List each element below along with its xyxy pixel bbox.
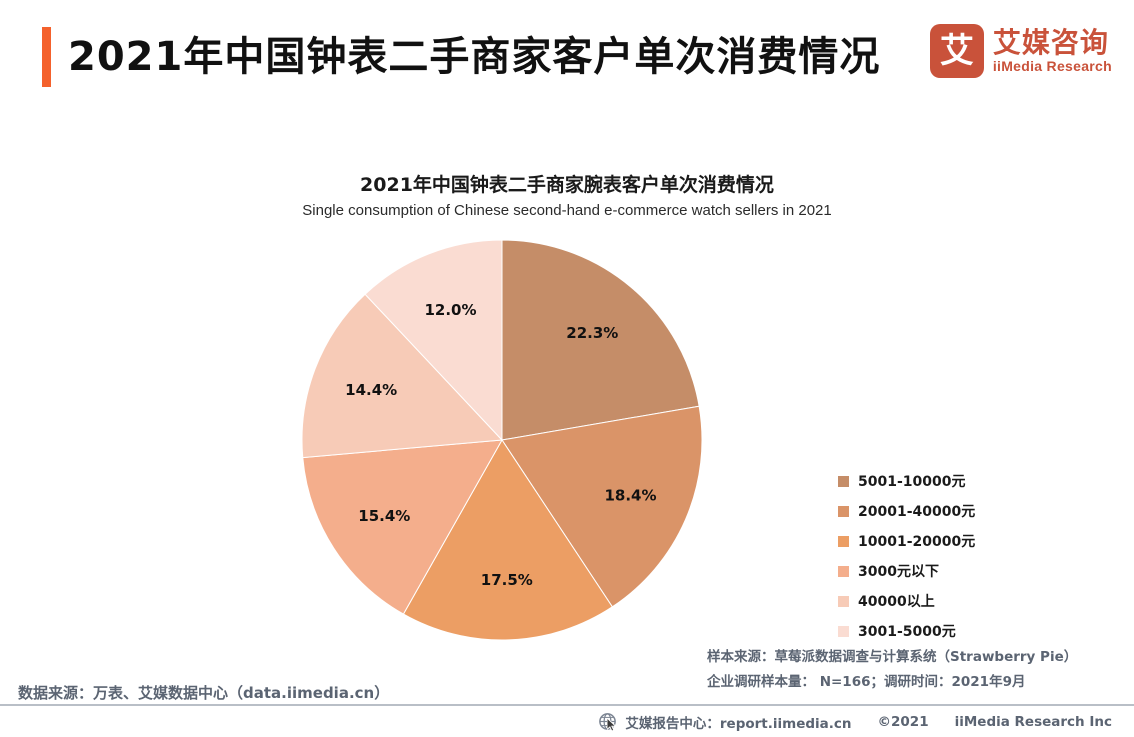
sample-size-note: 企业调研样本量： N=166；调研时间：2021年9月 (707, 670, 1127, 695)
chart-legend: 5001-10000元20001-40000元10001-20000元3000元… (838, 468, 975, 648)
footer-copyright: ©2021 (878, 714, 929, 730)
pie-slice-label: 22.3% (566, 324, 618, 342)
title-accent-bar (42, 27, 51, 87)
legend-swatch-icon (838, 506, 849, 517)
sample-note-block: 样本来源：草莓派数据调查与计算系统（Strawberry Pie） 企业调研样本… (707, 645, 1127, 695)
chart-container: 2021年中国钟表二手商家腕表客户单次消费情况 Single consumpti… (0, 110, 1134, 630)
legend-item[interactable]: 40000以上 (838, 588, 975, 614)
legend-swatch-icon (838, 476, 849, 487)
pie-chart-svg: 22.3%18.4%17.5%15.4%14.4%12.0% (300, 238, 704, 642)
pie-slice-label: 15.4% (358, 507, 410, 525)
legend-swatch-icon (838, 566, 849, 577)
legend-label: 5001-10000元 (858, 471, 965, 491)
data-source-note: 数据来源：万表、艾媒数据中心（data.iimedia.cn） (18, 682, 389, 703)
logo-text-group: 艾媒咨询 iiMedia Research (993, 28, 1112, 75)
legend-item[interactable]: 3001-5000元 (838, 618, 975, 644)
globe-icon (598, 712, 617, 731)
chart-page: 2021年中国钟表二手商家客户单次消费情况 艾 艾媒咨询 iiMedia Res… (0, 0, 1134, 737)
legend-swatch-icon (838, 596, 849, 607)
legend-label: 20001-40000元 (858, 501, 975, 521)
footer-report-center[interactable]: 艾媒报告中心：report.iimedia.cn (625, 712, 851, 732)
chart-subtitle: Single consumption of Chinese second-han… (0, 202, 1134, 219)
legend-label: 10001-20000元 (858, 531, 975, 551)
chart-title: 2021年中国钟表二手商家腕表客户单次消费情况 (0, 170, 1134, 197)
legend-label: 3001-5000元 (858, 621, 956, 641)
page-header: 2021年中国钟表二手商家客户单次消费情况 艾 艾媒咨询 iiMedia Res… (0, 0, 1134, 110)
logo-cn-name: 艾媒咨询 (993, 28, 1112, 58)
pie-slice-label: 12.0% (424, 301, 476, 319)
legend-swatch-icon (838, 536, 849, 547)
pie-chart: 22.3%18.4%17.5%15.4%14.4%12.0% (300, 238, 704, 642)
pie-slice-label: 18.4% (604, 487, 656, 505)
logo-en-name: iiMedia Research (993, 58, 1112, 75)
mouse-cursor-icon (607, 718, 618, 737)
page-footer: 艾媒报告中心：report.iimedia.cn ©2021 iiMedia R… (0, 706, 1134, 737)
pie-slice-label: 17.5% (481, 571, 533, 589)
pie-slice-label: 14.4% (345, 381, 397, 399)
footer-company: iiMedia Research Inc (955, 714, 1112, 730)
legend-item[interactable]: 20001-40000元 (838, 498, 975, 524)
legend-label: 3000元以下 (858, 561, 939, 581)
sample-source-note: 样本来源：草莓派数据调查与计算系统（Strawberry Pie） (707, 645, 1127, 670)
legend-item[interactable]: 10001-20000元 (838, 528, 975, 554)
legend-item[interactable]: 3000元以下 (838, 558, 975, 584)
iimedia-logo: 艾 艾媒咨询 iiMedia Research (930, 24, 1112, 78)
legend-swatch-icon (838, 626, 849, 637)
legend-item[interactable]: 5001-10000元 (838, 468, 975, 494)
legend-label: 40000以上 (858, 591, 935, 611)
page-title: 2021年中国钟表二手商家客户单次消费情况 (68, 27, 880, 87)
logo-mark-icon: 艾 (930, 24, 984, 78)
